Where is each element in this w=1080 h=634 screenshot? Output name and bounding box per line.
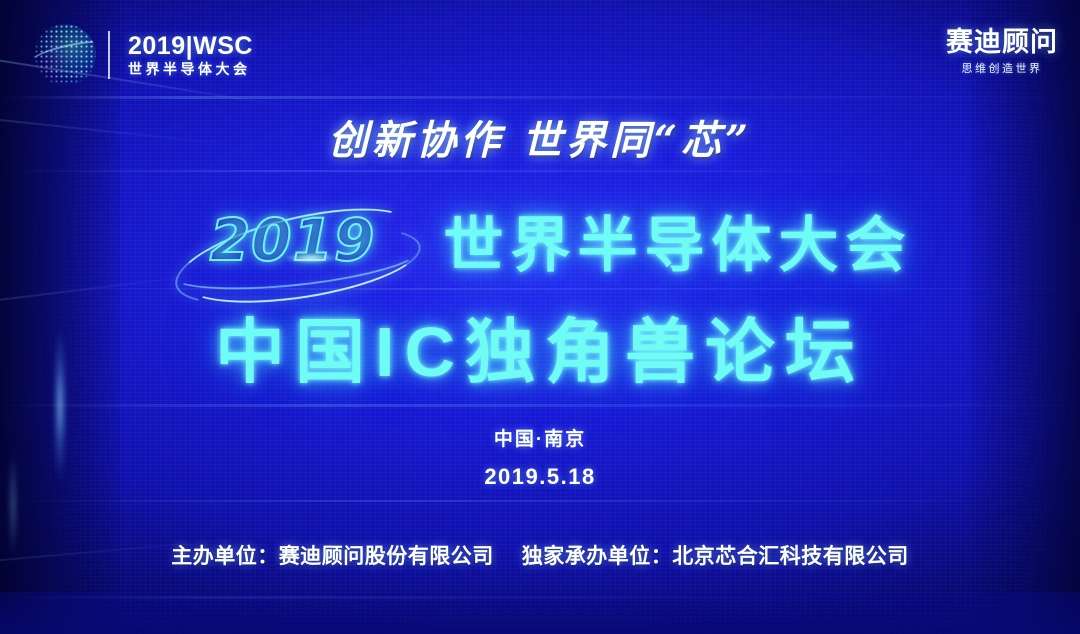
event-slogan: 创新协作 世界同“芯” [0,108,1080,166]
orbit-flare [276,252,346,264]
sponsor-name: 赛迪顾问 [946,28,1058,56]
organizer-organization: 独家承办单位：北京芯合汇科技有限公司 [522,540,909,570]
event-location: 中国·南京 [0,424,1080,451]
conference-logo-chinese: 世界半导体大会 [128,62,253,76]
bottom-strip [0,592,1080,634]
main-title-row-one: 2019 世界半导体大会 [0,192,1080,288]
conference-logo-text: 2019|WSC 世界半导体大会 [128,34,253,76]
year-badge: 2019 [168,192,418,288]
footer-credits: 主办单位：赛迪顾问股份有限公司 独家承办单位：北京芯合汇科技有限公司 [0,540,1080,570]
event-date: 2019.5.18 [0,464,1080,490]
forum-title: 中国IC独角兽论坛 [0,296,1080,397]
conference-title: 世界半导体大会 [444,197,913,284]
sponsor-slogan: 思维创造世界 [946,60,1058,76]
event-meta: 中国·南京 2019.5.18 [0,424,1080,490]
logo-divider [108,31,110,79]
event-backdrop-screenshot: 2019|WSC 世界半导体大会 赛迪顾问 思维创造世界 创新协作 世界同“芯”… [0,0,1080,634]
conference-logo: 2019|WSC 世界半导体大会 [34,24,253,86]
main-title-row-two: 中国IC独角兽论坛 [0,296,1080,397]
host-organization: 主办单位：赛迪顾问股份有限公司 [171,540,494,570]
globe-dots-icon [34,24,96,86]
sponsor-logo: 赛迪顾问 思维创造世界 [946,28,1058,76]
conference-logo-english: 2019|WSC [128,34,253,59]
